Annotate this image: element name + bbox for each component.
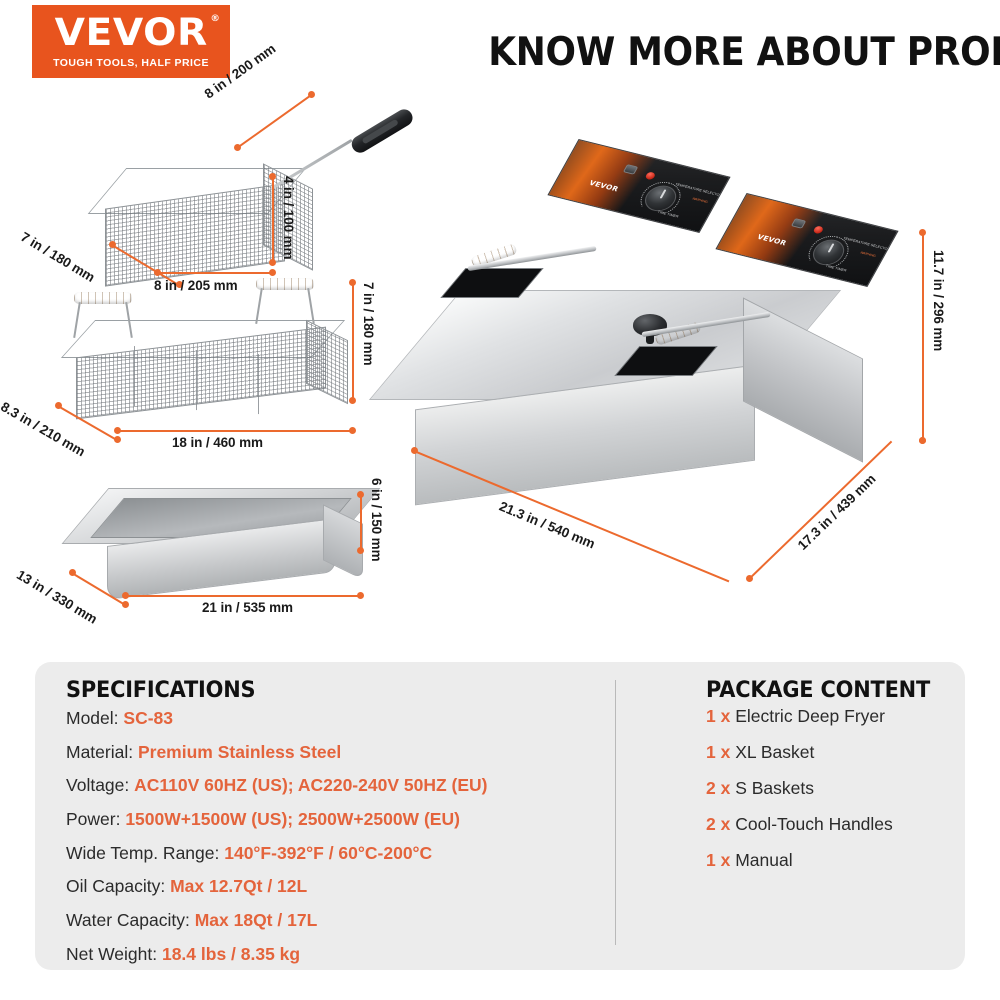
spec-label: Wide Temp. Range: bbox=[66, 843, 224, 863]
dim-dot bbox=[349, 427, 356, 434]
spec-label: Voltage: bbox=[66, 775, 134, 795]
spec-label: Oil Capacity: bbox=[66, 876, 170, 896]
spec-row: Model: SC-83 bbox=[66, 710, 606, 728]
package-row: 2 x S Baskets bbox=[706, 780, 966, 798]
dim-dot bbox=[357, 547, 364, 554]
logo-word-text: VEVOR bbox=[54, 11, 207, 54]
package-item-name: Electric Deep Fryer bbox=[735, 706, 885, 726]
dim-label-s-depth: 7 in / 180 mm bbox=[18, 229, 97, 285]
spec-value: 140°F-392°F / 60°C-200°C bbox=[224, 843, 432, 863]
section-divider bbox=[615, 680, 616, 945]
dim-label-s-height: 4 in / 100 mm bbox=[281, 176, 296, 260]
spec-value: 18.4 lbs / 8.35 kg bbox=[162, 944, 300, 964]
package-quantity: 1 x bbox=[706, 850, 735, 870]
dim-dot bbox=[919, 437, 926, 444]
package-row: 1 x XL Basket bbox=[706, 744, 966, 762]
control-panel-right[interactable]: VEVOR TEMPERATURE SELECTOR TIME TIMER WA… bbox=[715, 193, 898, 287]
logo-tagline: TOUGH TOOLS, HALF PRICE bbox=[53, 57, 209, 69]
dimline-s-width bbox=[157, 272, 272, 274]
dimline-fryer-height bbox=[922, 232, 924, 440]
dimline-xl-width bbox=[117, 430, 352, 432]
xl-basket-handle-left bbox=[74, 292, 132, 304]
dim-dot bbox=[122, 592, 129, 599]
registered-trademark-icon: ® bbox=[210, 15, 220, 24]
warning-label-left: WARNING bbox=[692, 197, 709, 204]
package-content-list: 1 x Electric Deep Fryer1 x XL Basket2 x … bbox=[706, 708, 966, 888]
package-item-name: Manual bbox=[735, 850, 792, 870]
s-basket-handle-grip bbox=[349, 106, 416, 156]
xl-basket-handle-right bbox=[256, 278, 314, 290]
spec-label: Model: bbox=[66, 708, 123, 728]
spec-value: Premium Stainless Steel bbox=[138, 742, 341, 762]
dim-label-xl-height: 7 in / 180 mm bbox=[361, 282, 376, 366]
package-row: 2 x Cool-Touch Handles bbox=[706, 816, 966, 834]
dim-dot bbox=[411, 447, 418, 454]
spec-value: Max 18Qt / 17L bbox=[195, 910, 318, 930]
control-panel-left[interactable]: VEVOR TEMPERATURE SELECTOR TIME TIMER WA… bbox=[547, 139, 730, 233]
dim-dot bbox=[349, 397, 356, 404]
handle-leg bbox=[73, 302, 80, 338]
package-content-title: PACKAGE CONTENT bbox=[706, 678, 930, 703]
dim-dot bbox=[919, 229, 926, 236]
dim-label-fryer-depth: 17.3 in / 439 mm bbox=[795, 471, 879, 553]
package-row: 1 x Manual bbox=[706, 852, 966, 870]
dimline-tank-width bbox=[125, 595, 360, 597]
dim-dot bbox=[122, 601, 129, 608]
xl-basket-divider bbox=[258, 354, 259, 414]
spec-value: Max 12.7Qt / 12L bbox=[170, 876, 307, 896]
spec-value: 1500W+1500W (US); 2500W+2500W (EU) bbox=[125, 809, 460, 829]
spec-row: Water Capacity: Max 18Qt / 17L bbox=[66, 912, 606, 930]
temperature-selector-label-left: TEMPERATURE SELECTOR bbox=[674, 182, 722, 197]
spec-value: SC-83 bbox=[123, 708, 173, 728]
dim-label-xl-width: 18 in / 460 mm bbox=[172, 435, 263, 450]
logo-wordmark: VEVOR ® bbox=[54, 14, 207, 51]
spec-row: Oil Capacity: Max 12.7Qt / 12L bbox=[66, 878, 606, 896]
dim-dot bbox=[357, 491, 364, 498]
dim-label-tank-height: 6 in / 150 mm bbox=[369, 478, 384, 562]
dimline-tank-height bbox=[360, 494, 362, 550]
package-item-name: S Baskets bbox=[735, 778, 814, 798]
electric-deep-fryer-illustration: VEVOR TEMPERATURE SELECTOR TIME TIMER WA… bbox=[405, 150, 935, 480]
dimline-s-handle-length bbox=[237, 94, 312, 148]
spec-row: Net Weight: 18.4 lbs / 8.35 kg bbox=[66, 946, 606, 964]
dim-label-tank-width: 21 in / 535 mm bbox=[202, 600, 293, 615]
dim-dot bbox=[269, 269, 276, 276]
spec-label: Power: bbox=[66, 809, 125, 829]
dim-label-s-width: 8 in / 205 mm bbox=[154, 278, 238, 293]
spec-label: Material: bbox=[66, 742, 138, 762]
xl-basket-divider bbox=[196, 350, 197, 410]
spec-row: Material: Premium Stainless Steel bbox=[66, 744, 606, 762]
warning-label-right: WARNING bbox=[860, 251, 877, 258]
dim-dot bbox=[154, 269, 161, 276]
specifications-list: Model: SC-83Material: Premium Stainless … bbox=[66, 710, 606, 980]
spec-label: Water Capacity: bbox=[66, 910, 195, 930]
spec-row: Wide Temp. Range: 140°F-392°F / 60°C-200… bbox=[66, 845, 606, 863]
dim-dot bbox=[55, 402, 62, 409]
xl-basket-divider bbox=[134, 346, 135, 406]
dim-dot bbox=[114, 427, 121, 434]
package-item-name: XL Basket bbox=[735, 742, 814, 762]
package-quantity: 2 x bbox=[706, 778, 735, 798]
package-row: 1 x Electric Deep Fryer bbox=[706, 708, 966, 726]
product-infographic: VEVOR ® TOUGH TOOLS, HALF PRICE KNOW MOR… bbox=[0, 0, 1000, 1000]
package-item-name: Cool-Touch Handles bbox=[735, 814, 893, 834]
specifications-title: SPECIFICATIONS bbox=[66, 678, 255, 703]
wooden-grip-icon bbox=[74, 292, 132, 304]
dim-dot bbox=[114, 436, 121, 443]
dim-dot bbox=[269, 173, 276, 180]
dimline-s-height bbox=[272, 176, 274, 262]
spec-value: AC110V 60HZ (US); AC220-240V 50HZ (EU) bbox=[134, 775, 487, 795]
package-quantity: 2 x bbox=[706, 814, 735, 834]
dim-dot bbox=[109, 241, 116, 248]
dimline-xl-height bbox=[352, 282, 354, 400]
dim-dot bbox=[69, 569, 76, 576]
spec-label: Net Weight: bbox=[66, 944, 162, 964]
dim-dot bbox=[357, 592, 364, 599]
temperature-selector-label-right: TEMPERATURE SELECTOR bbox=[842, 236, 890, 251]
dim-dot bbox=[349, 279, 356, 286]
wooden-grip-icon bbox=[256, 278, 314, 290]
package-quantity: 1 x bbox=[706, 706, 735, 726]
spec-row: Voltage: AC110V 60HZ (US); AC220-240V 50… bbox=[66, 777, 606, 795]
xl-basket-illustration bbox=[60, 300, 360, 440]
dim-label-fryer-height: 11.7 in / 296 mm bbox=[931, 250, 946, 351]
spec-row: Power: 1500W+1500W (US); 2500W+2500W (EU… bbox=[66, 811, 606, 829]
package-quantity: 1 x bbox=[706, 742, 735, 762]
xl-basket-side bbox=[306, 320, 348, 404]
page-title: KNOW MORE ABOUT PRODUCT bbox=[488, 33, 985, 74]
vevor-logo: VEVOR ® TOUGH TOOLS, HALF PRICE bbox=[32, 5, 230, 78]
oil-tank-illustration bbox=[85, 470, 375, 610]
dim-dot bbox=[269, 259, 276, 266]
